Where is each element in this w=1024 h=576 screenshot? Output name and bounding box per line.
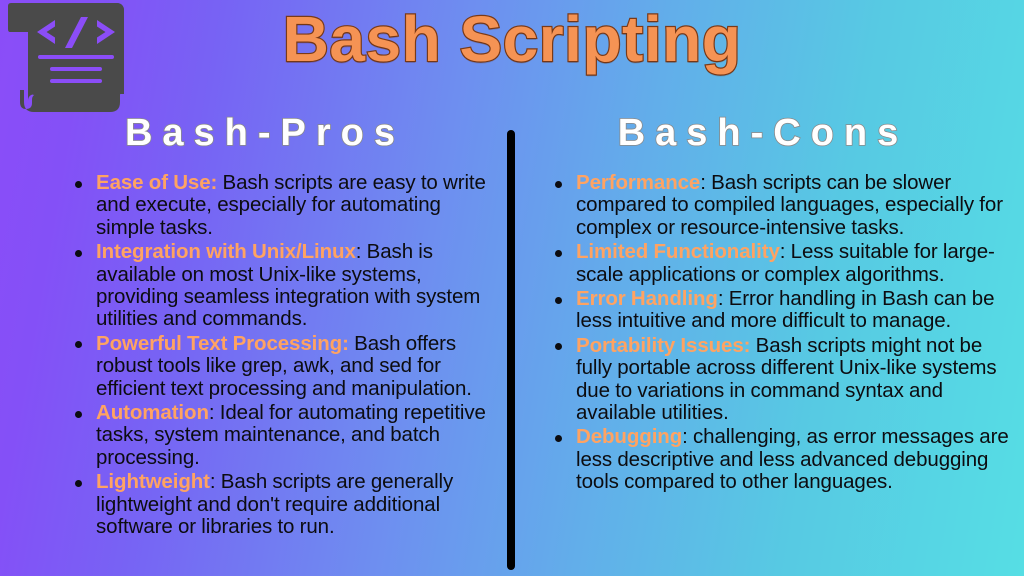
- list-item: Portability Issues: Bash scripts might n…: [546, 335, 1016, 425]
- list-item: Integration with Unix/Linux: Bash is ava…: [66, 241, 496, 331]
- list-item-term: Ease of Use:: [96, 171, 217, 194]
- list-item-term: Integration with Unix/Linux: [96, 240, 356, 263]
- pros-column: Ease of Use: Bash scripts are easy to wr…: [66, 172, 496, 541]
- list-item-term: Lightweight: [96, 470, 210, 493]
- list-item: Performance: Bash scripts can be slower …: [546, 172, 1016, 239]
- list-item-term: Debugging: [576, 425, 682, 448]
- poster-canvas: Bash Scripting Bash-Pros Bash-Cons Ease …: [0, 0, 1024, 576]
- cons-column: Performance: Bash scripts can be slower …: [546, 172, 1016, 496]
- column-heading-cons: Bash-Cons: [528, 112, 998, 155]
- list-item: Lightweight: Bash scripts are generally …: [66, 471, 496, 538]
- page-title: Bash Scripting: [0, 6, 1024, 73]
- list-item: Powerful Text Processing: Bash offers ro…: [66, 333, 496, 400]
- list-item: Error Handling: Error handling in Bash c…: [546, 288, 1016, 333]
- list-item-term: Performance: [576, 171, 700, 194]
- list-item-term: Powerful Text Processing:: [96, 332, 349, 355]
- cons-list: Performance: Bash scripts can be slower …: [546, 172, 1016, 494]
- list-item: Limited Functionality: Less suitable for…: [546, 241, 1016, 286]
- list-item-term: Error Handling: [576, 287, 718, 310]
- list-item: Automation: Ideal for automating repetit…: [66, 402, 496, 469]
- pros-list: Ease of Use: Bash scripts are easy to wr…: [66, 172, 496, 539]
- list-item-term: Limited Functionality: [576, 240, 780, 263]
- column-divider: [507, 130, 515, 570]
- list-item-term: Automation: [96, 401, 209, 424]
- list-item: Ease of Use: Bash scripts are easy to wr…: [66, 172, 496, 239]
- list-item: Debugging: challenging, as error message…: [546, 426, 1016, 493]
- column-heading-pros: Bash-Pros: [40, 112, 490, 155]
- list-item-term: Portability Issues:: [576, 334, 750, 357]
